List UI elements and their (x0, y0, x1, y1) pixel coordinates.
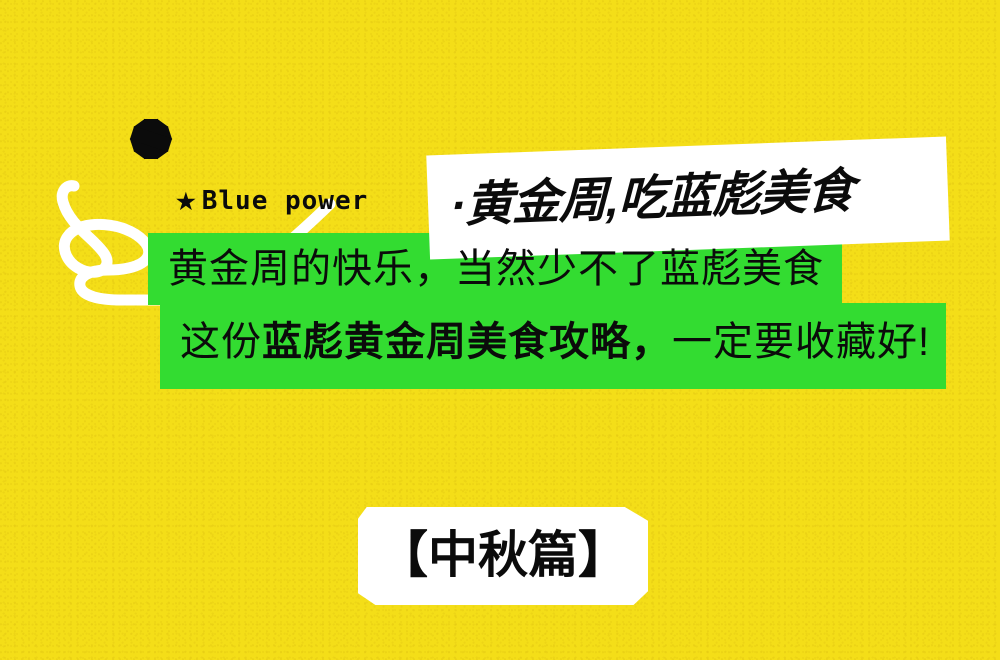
tagline: ★ Blue power (176, 186, 368, 216)
bottom-tag-text: 【中秋篇】 (378, 530, 628, 580)
subhead-line-1: 黄金周的快乐，当然少不了蓝彪美食 (168, 249, 824, 289)
headline-text: ·黄金周,吃蓝彪美食 (428, 168, 854, 232)
star-bullet-icon: ★ (176, 191, 198, 213)
tagline-label: Blue power (202, 186, 369, 216)
subhead-line-2-suffix: 一定要收藏好! (672, 320, 930, 364)
subhead-line-2-bold: 蓝彪黄金周美食攻略， (262, 320, 672, 364)
asterisk-icon (118, 104, 184, 174)
subhead-line-2: 这份蓝彪黄金周美食攻略，一定要收藏好! (180, 322, 930, 362)
bottom-tag-banner: 【中秋篇】 (358, 507, 648, 605)
subhead-line-2-prefix: 这份 (180, 320, 262, 364)
poster-canvas: ★ Blue power ·黄金周,吃蓝彪美食 黄金周的快乐，当然少不了蓝彪美食… (0, 0, 1000, 660)
headline-banner: ·黄金周,吃蓝彪美食 (426, 137, 949, 260)
